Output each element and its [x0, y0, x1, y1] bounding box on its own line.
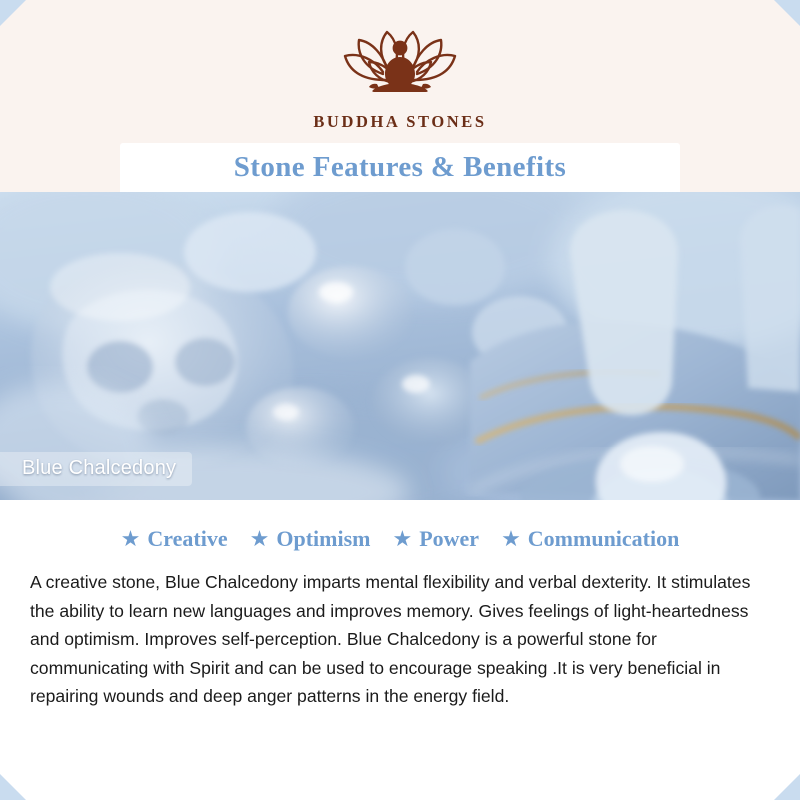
- corner-accent-bottom-left: [0, 774, 26, 800]
- keyword-item-optimism: ★ Optimism: [250, 526, 371, 552]
- corner-accent-bottom-right: [774, 774, 800, 800]
- content-section: ★ Creative ★ Optimism ★ Power ★ Communic…: [0, 500, 800, 800]
- keyword-label: Power: [419, 526, 479, 552]
- keyword-item-communication: ★ Communication: [501, 526, 679, 552]
- brand-name: BUDDHA STONES: [313, 112, 486, 132]
- lotus-meditation-figure-icon: [325, 18, 475, 110]
- keyword-label: Communication: [528, 526, 680, 552]
- keyword-item-power: ★ Power: [392, 526, 479, 552]
- keyword-list: ★ Creative ★ Optimism ★ Power ★ Communic…: [0, 500, 800, 552]
- keyword-label: Creative: [147, 526, 227, 552]
- corner-accent-top-right: [774, 0, 800, 26]
- section-title-band: Stone Features & Benefits: [120, 143, 680, 192]
- hero-photo: Blue Chalcedony: [0, 192, 800, 500]
- star-icon: ★: [392, 528, 412, 550]
- keyword-item-creative: ★ Creative: [121, 526, 228, 552]
- keyword-label: Optimism: [276, 526, 370, 552]
- corner-accent-top-left: [0, 0, 26, 26]
- header-band: BUDDHA STONES Stone Features & Benefits: [0, 0, 800, 192]
- brand-block: BUDDHA STONES: [0, 18, 800, 132]
- star-icon: ★: [250, 528, 270, 550]
- page-title: Stone Features & Benefits: [234, 151, 566, 184]
- star-icon: ★: [121, 528, 141, 550]
- description-paragraph: A creative stone, Blue Chalcedony impart…: [30, 568, 770, 711]
- star-icon: ★: [501, 528, 521, 550]
- stone-name-caption: Blue Chalcedony: [0, 452, 192, 486]
- infographic-page: BUDDHA STONES Stone Features & Benefits: [0, 0, 800, 800]
- stone-name-text: Blue Chalcedony: [22, 457, 176, 479]
